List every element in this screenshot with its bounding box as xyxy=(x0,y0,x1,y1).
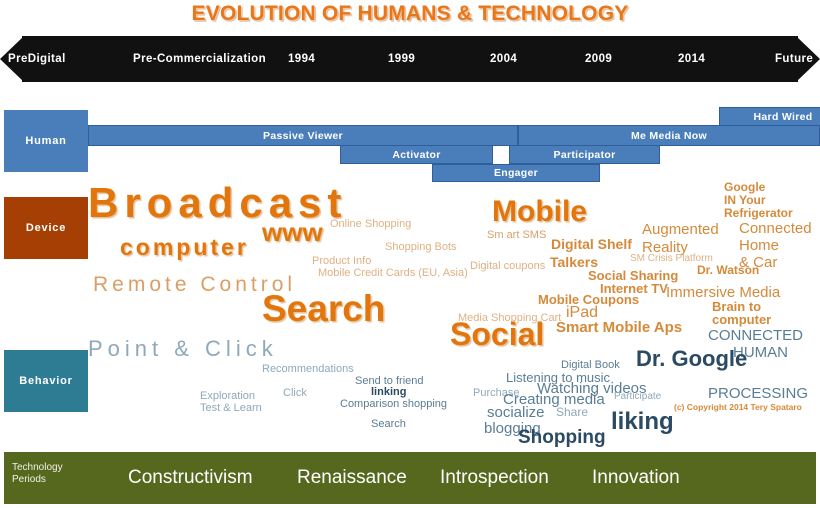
device-cloud-word: Augmented xyxy=(642,222,719,237)
technology-period-item: Renaissance xyxy=(297,452,407,504)
category-block-device: Device xyxy=(4,197,88,259)
behavior-cloud-word: Test & Learn xyxy=(200,403,262,414)
technology-periods-label: Technology Periods xyxy=(12,462,98,486)
human-phase-bar: Me Media Now xyxy=(518,125,820,146)
device-cloud-word: computer xyxy=(120,236,249,259)
technology-periods-band xyxy=(4,452,816,504)
category-block-human: Human xyxy=(4,110,88,172)
infographic-canvas: EVOLUTION OF HUMANS & TECHNOLOGY PreDigi… xyxy=(0,0,820,508)
behavior-cloud-word: Click xyxy=(283,388,307,399)
behavior-cloud-word: Recommendations xyxy=(262,364,354,375)
timeline-tick-label: Pre-Commercialization xyxy=(133,36,266,82)
behavior-cloud-word: Point & Click xyxy=(88,338,278,360)
device-cloud-word: & Car xyxy=(739,255,777,270)
device-cloud-word: Sm art SMS xyxy=(487,230,546,241)
behavior-cloud-word: socialize xyxy=(487,405,545,420)
device-cloud-word: Immersive Media xyxy=(666,285,780,300)
timeline-tick-label: 2014 xyxy=(678,36,705,82)
device-cloud-word: Shopping Bots xyxy=(385,242,457,253)
timeline-axis: PreDigitalPre-Commercialization199419992… xyxy=(0,36,820,82)
device-cloud-word: Google xyxy=(724,181,765,193)
technology-period-item: Innovation xyxy=(592,452,680,504)
technology-periods-label-line2: Periods xyxy=(12,474,98,486)
technology-periods-label-line1: Technology xyxy=(12,462,98,474)
behavior-cloud-word: Shopping xyxy=(518,428,606,447)
technology-period-item: Introspection xyxy=(440,452,549,504)
behavior-cloud-word: Comparison shopping xyxy=(340,399,447,410)
device-cloud-word: Mobile xyxy=(492,197,587,227)
timeline-tick-label: 1994 xyxy=(288,36,315,82)
behavior-cloud-word: CONNECTED xyxy=(708,328,803,343)
device-cloud-word: Digital Shelf xyxy=(551,237,632,251)
category-label-human: Human xyxy=(25,135,66,147)
device-cloud-word: Product Info xyxy=(312,256,371,267)
behavior-cloud-word: linking xyxy=(371,387,406,398)
device-cloud-word: computer xyxy=(712,313,771,326)
human-phase-bar: Participator xyxy=(509,145,660,164)
timeline-tick-label: 2004 xyxy=(490,36,517,82)
human-phase-bar: Activator xyxy=(340,145,493,164)
category-label-device: Device xyxy=(26,222,66,234)
device-cloud-word: Talkers xyxy=(550,255,598,269)
technology-period-item: Constructivism xyxy=(128,452,253,504)
device-cloud-word: Online Shopping xyxy=(330,219,411,230)
human-phase-bar: Hard Wired xyxy=(719,107,820,126)
category-block-behavior: Behavior xyxy=(4,350,88,412)
device-cloud-word: Connected xyxy=(739,221,812,236)
device-cloud-word: Home xyxy=(739,238,779,253)
device-cloud-word: www xyxy=(262,219,323,245)
device-cloud-word: Refrigerator xyxy=(724,207,793,219)
timeline-tick-label: Future xyxy=(775,36,813,82)
page-title: EVOLUTION OF HUMANS & TECHNOLOGY xyxy=(0,2,820,26)
device-cloud-word: IN Your xyxy=(724,194,766,206)
behavior-cloud-word: PROCESSING xyxy=(708,386,808,401)
timeline-tick-label: 1999 xyxy=(388,36,415,82)
timeline-tick-label: 2009 xyxy=(585,36,612,82)
behavior-cloud-word: Dr. Google xyxy=(636,348,747,370)
behavior-cloud-word: liking xyxy=(611,410,674,434)
behavior-cloud-word: Exploration xyxy=(200,391,255,402)
category-label-behavior: Behavior xyxy=(19,375,72,387)
human-phase-bar: Passive Viewer xyxy=(88,125,518,146)
device-cloud-word: Mobile Credit Cards (EU, Asia) xyxy=(318,268,468,279)
behavior-cloud-word: Search xyxy=(371,419,406,430)
timeline-tick-label: PreDigital xyxy=(8,36,66,82)
device-cloud-word: Search xyxy=(262,290,385,327)
human-phase-bar: Engager xyxy=(432,164,600,182)
device-cloud-word: Social xyxy=(450,318,544,350)
device-cloud-word: Smart Mobile Aps xyxy=(556,320,682,335)
behavior-cloud-word: Participate xyxy=(614,392,661,402)
device-cloud-word: (c) Copyright 2014 Tery Spataro xyxy=(674,403,802,412)
behavior-cloud-word: Share xyxy=(556,406,588,418)
device-cloud-word: Digital coupons xyxy=(470,261,545,272)
